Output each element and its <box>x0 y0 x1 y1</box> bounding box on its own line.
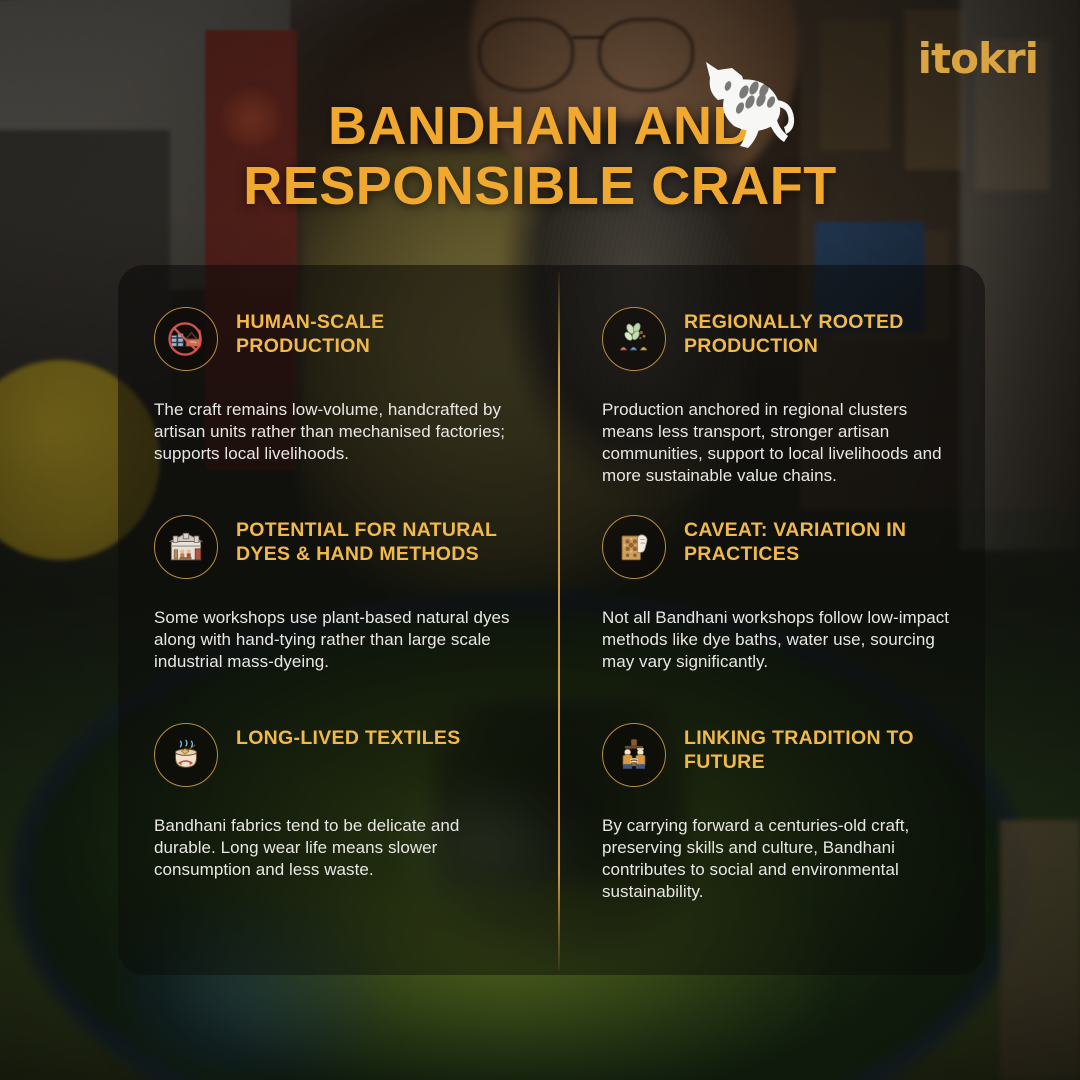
page-title: BANDHANI AND RESPONSIBLE CRAFT <box>0 96 1080 217</box>
feature-card-regionally-rooted-production[interactable]: REGIONALLY ROOTED PRODUCTION Production … <box>558 265 985 473</box>
card-header: CAVEAT: VARIATION IN PRACTICES <box>602 513 963 579</box>
two-artisans-icon <box>602 723 666 787</box>
feature-card-linking-tradition-to-future[interactable]: LINKING TRADITION TO FUTURE By carrying … <box>558 681 985 911</box>
page-title-line-2: RESPONSIBLE CRAFT <box>0 156 1080 216</box>
dye-pot-icon <box>154 723 218 787</box>
artisan-workshop-building-icon <box>154 515 218 579</box>
card-title: LINKING TRADITION TO FUTURE <box>684 721 963 775</box>
card-header: POTENTIAL FOR NATURAL DYES & HAND METHOD… <box>154 513 518 579</box>
card-body: Not all Bandhani workshops follow low-im… <box>602 607 963 673</box>
card-header: LONG-LIVED TEXTILES <box>154 721 518 787</box>
card-title: CAVEAT: VARIATION IN PRACTICES <box>684 513 963 567</box>
no-factory-icon <box>154 307 218 371</box>
card-header: REGIONALLY ROOTED PRODUCTION <box>602 305 963 371</box>
hand-holding-patterned-fabric-icon <box>602 515 666 579</box>
card-body: The craft remains low-volume, handcrafte… <box>154 399 518 465</box>
feature-card-caveat-variation-in-practices[interactable]: CAVEAT: VARIATION IN PRACTICES Not all B… <box>558 473 985 681</box>
feature-grid: HUMAN-SCALE PRODUCTION The craft remains… <box>118 265 985 975</box>
card-header: HUMAN-SCALE PRODUCTION <box>154 305 518 371</box>
card-title: REGIONALLY ROOTED PRODUCTION <box>684 305 963 359</box>
itokri-logo[interactable]: itokri <box>918 38 1038 80</box>
card-header: LINKING TRADITION TO FUTURE <box>602 721 963 787</box>
card-body: Some workshops use plant-based natural d… <box>154 607 518 673</box>
card-title: POTENTIAL FOR NATURAL DYES & HAND METHOD… <box>236 513 518 567</box>
natural-dye-leaves-icon <box>602 307 666 371</box>
white-cat-icon <box>688 56 798 156</box>
card-body: By carrying forward a centuries-old craf… <box>602 815 963 903</box>
card-title: LONG-LIVED TEXTILES <box>236 721 461 751</box>
card-body: Bandhani fabrics tend to be delicate and… <box>154 815 518 881</box>
feature-card-human-scale-production[interactable]: HUMAN-SCALE PRODUCTION The craft remains… <box>118 265 558 473</box>
card-title: HUMAN-SCALE PRODUCTION <box>236 305 518 359</box>
feature-card-long-lived-textiles[interactable]: LONG-LIVED TEXTILES Bandhani fabrics ten… <box>118 681 558 911</box>
feature-card-potential-for-natural-dyes[interactable]: POTENTIAL FOR NATURAL DYES & HAND METHOD… <box>118 473 558 681</box>
